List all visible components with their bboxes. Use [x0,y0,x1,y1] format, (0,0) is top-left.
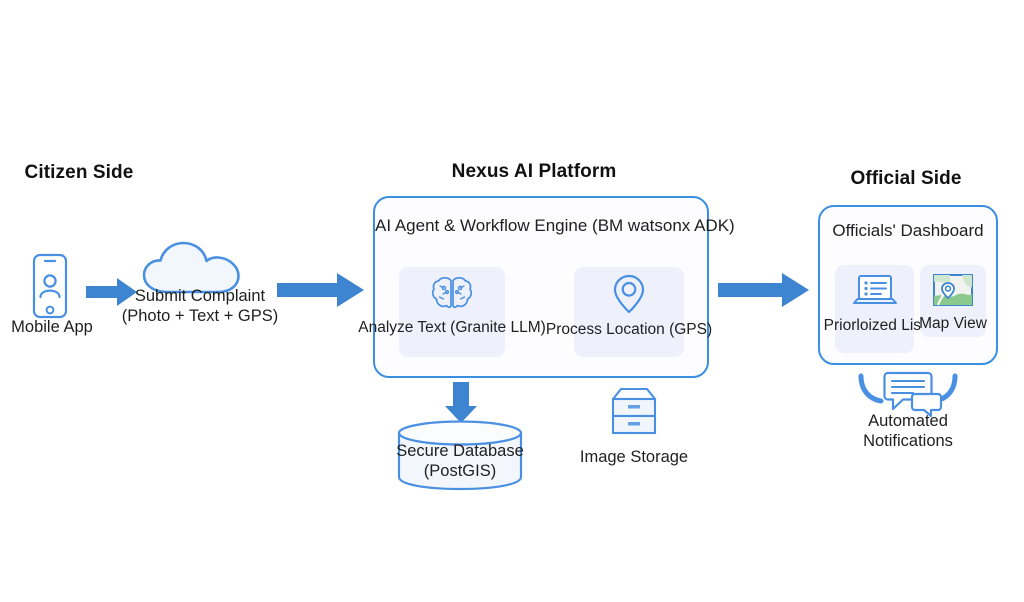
heading-nexus-ai-platform: Nexus AI Platform [406,161,662,183]
map-view-label: Map View [919,315,987,334]
automated-notifications-label: Automated Notifications [838,411,978,451]
map-view-line1: Map View [919,315,987,332]
analyze-text-line1: Analyze Text [358,319,446,336]
card-map-view[interactable]: Map View [920,265,986,337]
laptop-list-icon [851,273,899,309]
arrow-cloud-to-platform [277,272,365,308]
brain-icon [430,275,474,313]
automated-notifications-line2: Notifications [838,431,978,451]
mobile-app-label: Mobile App [0,317,104,337]
arrow-platform-to-official [718,272,810,308]
submit-complaint-label: Submit Complaint (Photo + Text + GPS) [112,286,288,326]
diagram-canvas: Citizen Side Nexus AI Platform Official … [0,0,1024,602]
process-location-line2: Location (GPS) [606,321,712,338]
engine-title-line1: AI Agent & Workflow Engine [375,216,587,235]
engine-title: AI Agent & Workflow Engine (BM watsonx A… [375,215,707,236]
submit-complaint-line1: Submit Complaint [112,286,288,306]
card-priorloized-list[interactable]: Priorloized List [835,265,914,353]
file-cabinet-icon [607,385,661,437]
process-location-line1: Process [546,321,602,338]
priorloized-list-line1: Priorloized [824,317,897,334]
heading-official-side: Official Side [816,168,996,190]
engine-title-line2: (BM watsonx ADK) [592,216,735,235]
map-view-icon [932,273,974,307]
officials-dashboard-panel: Officials' Dashboard Priorloized List [818,205,998,365]
analyze-text-label: Analyze Text (Granite LLM) [358,319,546,338]
location-pin-icon [611,273,647,315]
image-storage-label: Image Storage [562,447,706,467]
submit-complaint-line2: (Photo + Text + GPS) [112,306,288,326]
secure-database-line2: (PostGIS) [380,461,540,481]
arrow-platform-to-database [443,382,479,424]
priorloized-list-label: Priorloized List [824,317,926,336]
secure-database-label: Secure Database (PostGIS) [380,441,540,481]
analyze-text-line2: (Granite LLM) [450,319,546,336]
card-analyze-text[interactable]: Analyze Text (Granite LLM) [399,267,505,357]
process-location-label: Process Location (GPS) [546,321,712,340]
mobile-phone-icon [27,253,73,319]
officials-dashboard-title: Officials' Dashboard [820,220,996,241]
secure-database-line1: Secure Database [380,441,540,461]
automated-notifications-line1: Automated [838,411,978,431]
heading-citizen-side: Citizen Side [0,162,158,184]
platform-panel: AI Agent & Workflow Engine (BM watsonx A… [373,196,709,378]
card-process-location[interactable]: Process Location (GPS) [574,267,684,357]
